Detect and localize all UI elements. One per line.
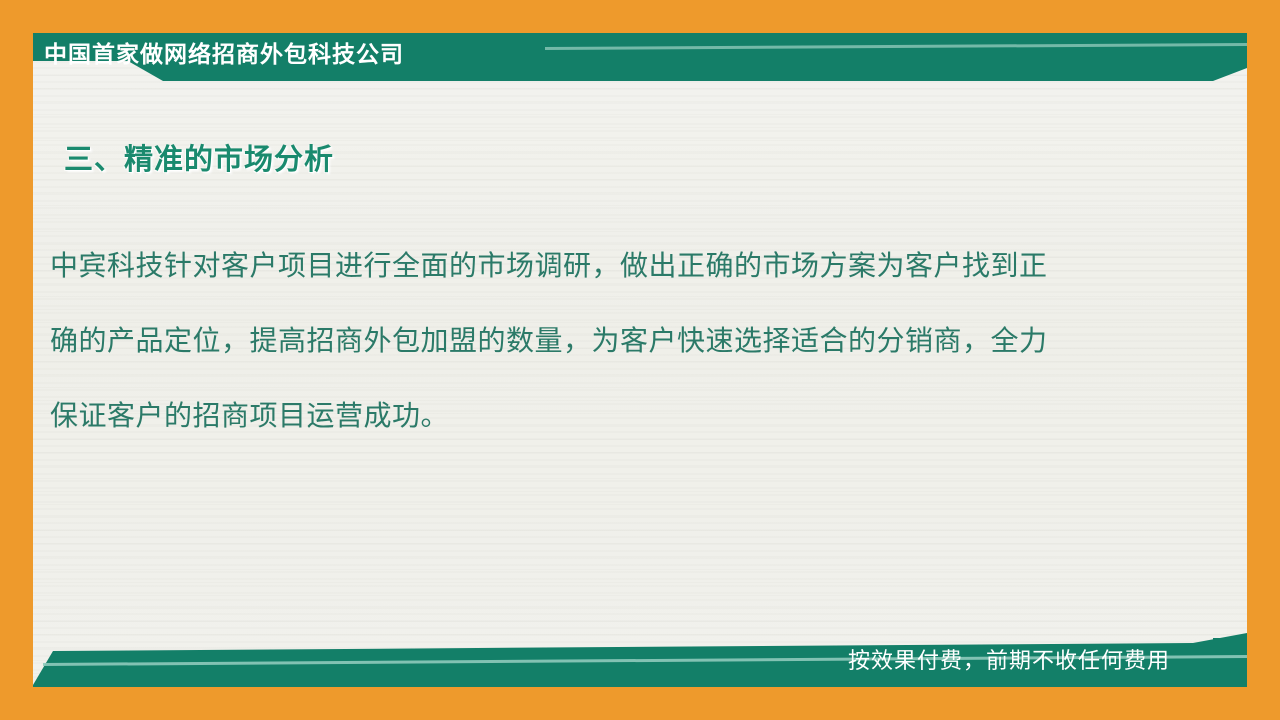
slide-root: 中国首家做网络招商外包科技公司 三、精准的市场分析 中宾科技针对客户项目进行全面… bbox=[0, 0, 1280, 720]
body-line-3: 保证客户的招商项目运营成功。 bbox=[50, 378, 1190, 453]
section-heading: 三、精准的市场分析 bbox=[64, 136, 334, 178]
body-paragraph: 中宾科技针对客户项目进行全面的市场调研，做出正确的市场方案为客户找到正 确的产品… bbox=[50, 228, 1190, 453]
header-band-top-fill bbox=[33, 33, 1247, 39]
body-line-2: 确的产品定位，提高招商外包加盟的数量，为客户快速选择适合的分销商，全力 bbox=[50, 303, 1190, 378]
footer-tagline: 按效果付费，前期不收任何费用 bbox=[848, 648, 1170, 676]
header-title: 中国首家做网络招商外包科技公司 bbox=[44, 40, 404, 70]
footer-band-right-fill bbox=[1213, 638, 1247, 687]
body-line-1: 中宾科技针对客户项目进行全面的市场调研，做出正确的市场方案为客户找到正 bbox=[50, 228, 1190, 303]
